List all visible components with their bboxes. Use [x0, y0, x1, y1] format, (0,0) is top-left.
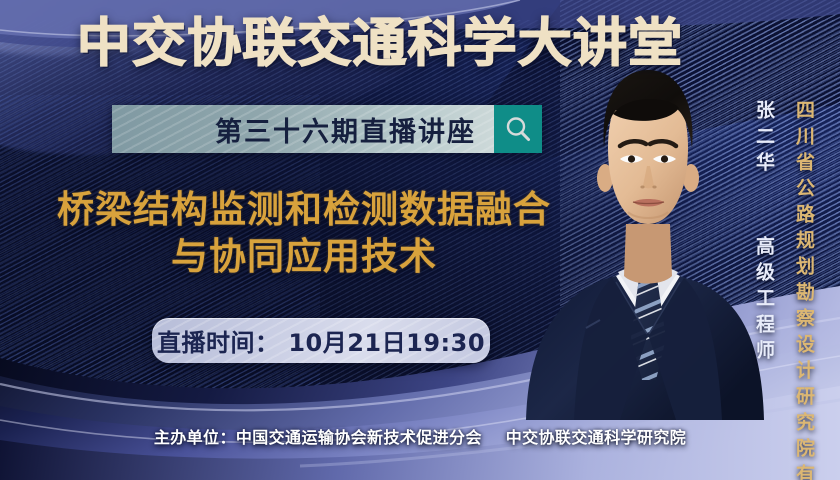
speaker-name-vertical: 张二华 高级工程师	[751, 100, 778, 366]
lecture-title: 桥梁结构监测和检测数据融合 与协同应用技术	[44, 186, 564, 281]
session-label: 第三十六期直播讲座	[215, 110, 476, 149]
broadcast-time-text: 直播时间： 10月21日19:30	[157, 323, 485, 358]
session-bar-body: 第三十六期直播讲座	[112, 105, 494, 153]
search-icon-glyph	[503, 114, 533, 144]
speaker-organization-vertical: 四川省公路规划勘察设计研究院有限公司	[791, 100, 818, 480]
lecture-title-line1: 桥梁结构监测和检测数据融合	[57, 188, 551, 231]
session-bar: 第三十六期直播讲座	[112, 105, 542, 153]
portrait-pupil-left	[628, 155, 635, 162]
search-icon[interactable]	[494, 105, 542, 153]
portrait-nostril-left	[640, 186, 644, 189]
broadcast-time-badge: 直播时间： 10月21日19:30	[152, 318, 490, 363]
page-title: 中交协联交通科学大讲堂	[0, 18, 775, 70]
portrait-nostril-right	[652, 186, 656, 189]
lecture-title-line2: 与协同应用技术	[44, 233, 564, 280]
portrait-neck	[624, 224, 672, 284]
portrait-pupil-right	[661, 155, 668, 162]
footer-organizers: 主办单位：中国交通运输协会新技术促进分会 中交协联交通科学研究院	[0, 424, 840, 448]
webinar-poster: 中交协联交通科学大讲堂 第三十六期直播讲座 桥梁结构监测和检测数据融合 与协同应…	[0, 0, 840, 480]
